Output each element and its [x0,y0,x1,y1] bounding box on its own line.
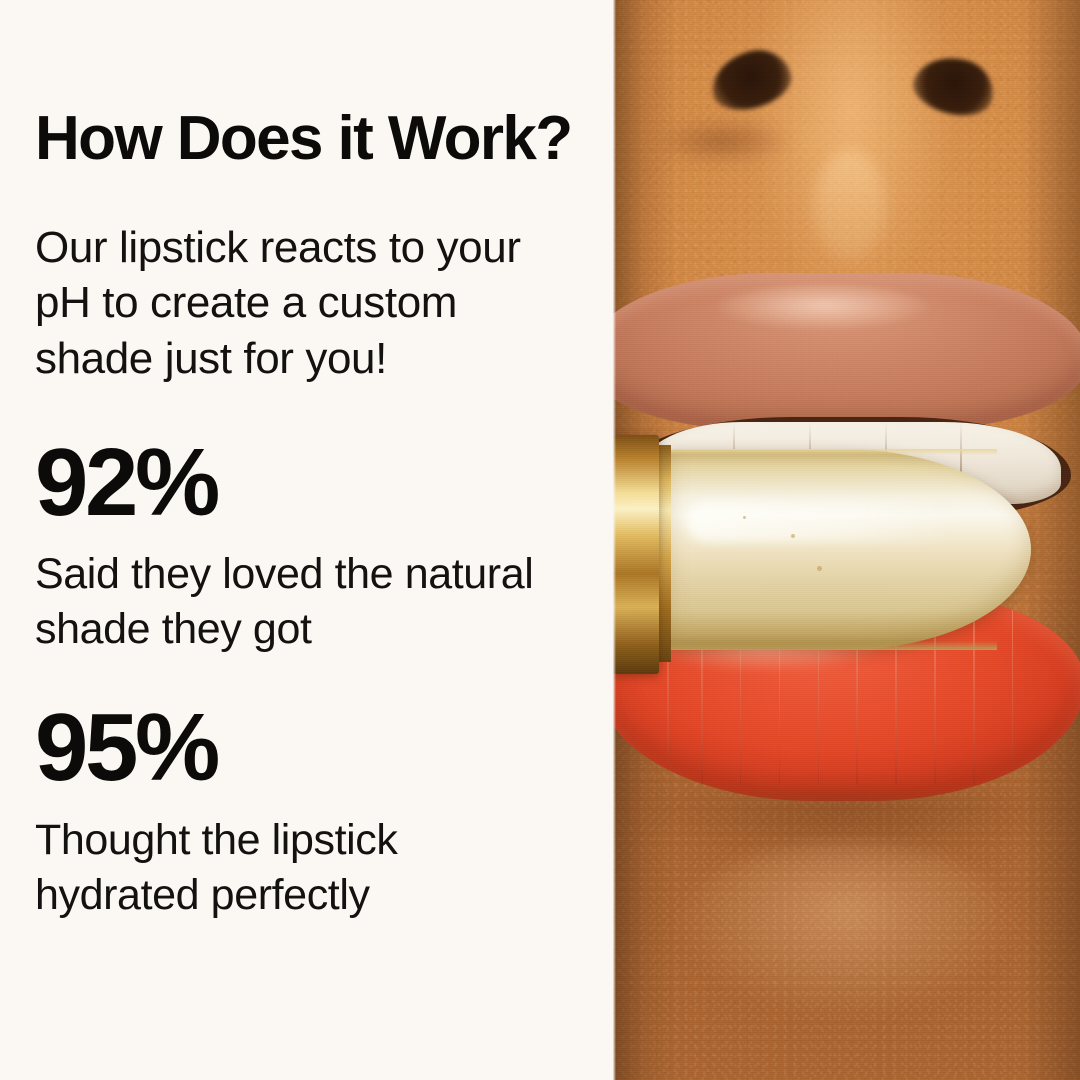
page-title: How Does it Work? [35,108,573,170]
intro-paragraph: Our lipstick reacts to your pH to create… [35,220,555,386]
lipstick-bullet [667,449,1031,650]
stat-value-95: 95% [35,701,573,794]
stat-value-92: 92% [35,436,573,529]
lipstick-product [613,449,1031,650]
stat-caption-95: Thought the lipstick hydrated perfectly [35,813,565,923]
nose-shadow [653,118,793,164]
bullet-speck [817,566,822,571]
bullet-bottom-edge [667,641,997,650]
upper-lip-sheen [716,285,931,330]
chin-highlight [678,842,1014,1015]
stat-block-1: 92% Said they loved the natural shade th… [35,436,573,657]
product-infographic-card: How Does it Work? Our lipstick reacts to… [0,0,1080,1080]
bullet-top-edge [667,449,997,455]
bullet-highlight [687,501,957,541]
bullet-speck [791,534,795,538]
gold-tube-base [613,435,659,674]
stat-block-2: 95% Thought the lipstick hydrated perfec… [35,701,573,922]
bullet-speck [743,516,746,519]
stat-caption-92: Said they loved the natural shade they g… [35,547,565,657]
philtrum-highlight [814,150,886,260]
copy-panel: How Does it Work? Our lipstick reacts to… [0,0,613,1080]
panel-divider [613,0,616,1080]
product-photo [613,0,1080,1080]
